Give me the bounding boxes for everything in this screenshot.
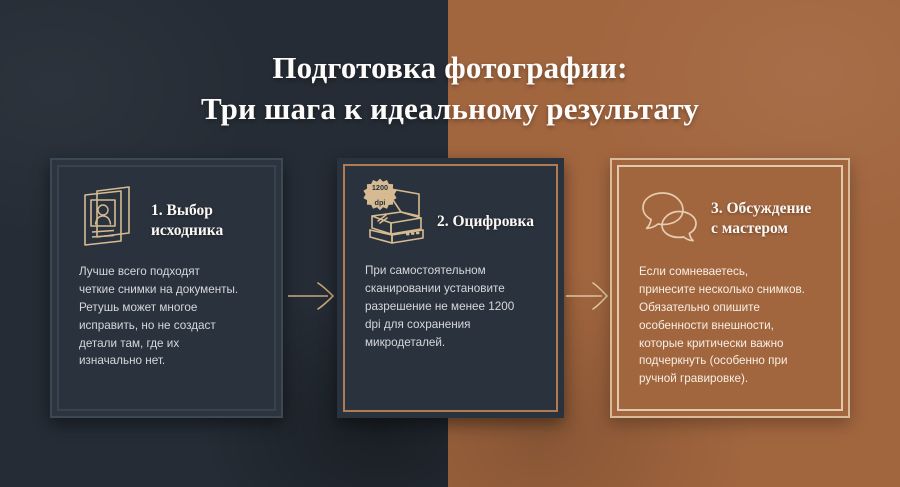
step-card-3-body: Если сомневаетесь, принесите несколько с… (639, 263, 823, 388)
arrow-step1-to-step2 (288, 281, 334, 311)
step-card-1-inner-frame: 1. Выбор исходника Лучше всего подходят … (57, 165, 276, 411)
flatbed-scanner-icon: 1200dpi (365, 182, 427, 248)
dpi-badge-line-2: dpi (372, 199, 388, 206)
step-card-2: 1200dpi 2. Оцифровка При самостоятельном… (337, 158, 564, 418)
dpi-badge-line-1: 1200 (372, 184, 388, 191)
step-card-2-body: При самостоятельном сканировании установ… (365, 262, 538, 351)
speech-bubbles-icon (639, 183, 701, 249)
dpi-badge: 1200dpi (363, 178, 397, 212)
step-card-3-header: 3. Обсуждение с мастером (639, 183, 823, 257)
step-card-1-header: 1. Выбор исходника (79, 183, 256, 257)
page-title: Подготовка фотографии: Три шага к идеаль… (0, 48, 900, 130)
dpi-badge-text: 1200dpi (372, 184, 388, 206)
step-card-1: 1. Выбор исходника Лучше всего подходят … (50, 158, 283, 418)
id-photo-card-icon (79, 183, 141, 249)
step-card-3-heading: 3. Обсуждение с мастером (711, 183, 811, 239)
title-line-1: Подготовка фотографии: (272, 50, 627, 85)
step-card-2-content: 1200dpi 2. Оцифровка При самостоятельном… (345, 166, 556, 410)
step-card-1-heading: 1. Выбор исходника (151, 183, 223, 241)
step-card-1-content: 1. Выбор исходника Лучше всего подходят … (59, 167, 274, 409)
step-card-3-inner-frame: 3. Обсуждение с мастером Если сомневаете… (617, 165, 843, 411)
step-card-1-body: Лучше всего подходят четкие снимки на до… (79, 263, 256, 370)
title-line-2: Три шага к идеальному результату (0, 89, 900, 130)
step-card-2-header: 1200dpi 2. Оцифровка (365, 182, 538, 256)
step-card-2-heading: 2. Оцифровка (437, 182, 534, 232)
step-card-3-content: 3. Обсуждение с мастером Если сомневаете… (619, 167, 841, 409)
infographic-canvas: Подготовка фотографии: Три шага к идеаль… (0, 0, 900, 487)
step-card-3: 3. Обсуждение с мастером Если сомневаете… (610, 158, 850, 418)
arrow-step2-to-step3 (566, 281, 608, 311)
step-card-2-inner-frame: 1200dpi 2. Оцифровка При самостоятельном… (343, 164, 558, 412)
